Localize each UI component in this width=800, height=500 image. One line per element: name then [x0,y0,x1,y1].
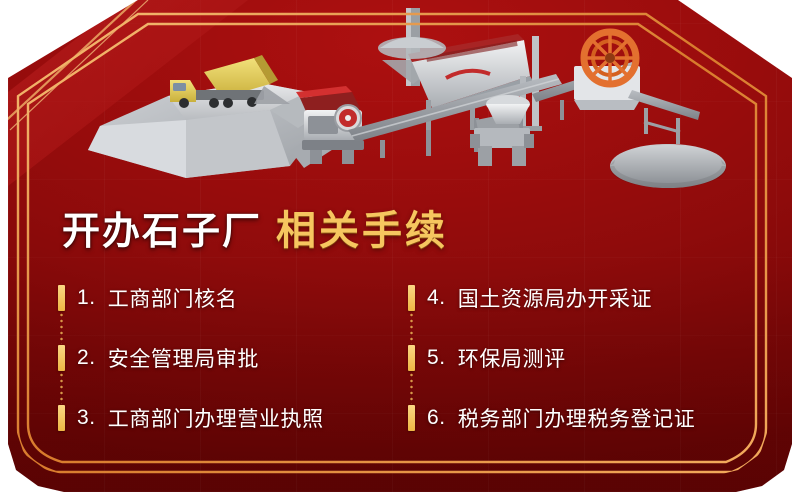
production-line-illustration [8,0,792,200]
list-item-label: 工商部门核名 [108,283,238,313]
stone-pile-small-icon [378,37,446,59]
bullet-bar-icon [408,405,415,431]
bullet-bar-icon [58,285,65,311]
list-item[interactable]: 1. 工商部门核名 [58,268,408,328]
list-item-number: 4. [427,286,446,310]
sand-washer-wheel-icon [574,32,700,144]
list-item-number: 6. [427,406,446,430]
title-primary: 开办石子厂 [62,200,262,255]
poster-title: 开办石子厂 相关手续 [62,198,448,256]
bullet-bar-icon [408,345,415,371]
right-column: 4. 国土资源局办开采证 5. 环保局测评 6. 税务部门办理税务登记证 [408,268,758,458]
list-item[interactable]: 6. 税务部门办理税务登记证 [408,388,758,448]
list-item[interactable]: 2. 安全管理局审批 [58,328,408,388]
list-item-label: 安全管理局审批 [108,343,259,373]
procedure-list: 1. 工商部门核名 2. 安全管理局审批 3. 工商部门办理营业执照 4. 国土… [58,268,758,458]
list-item-number: 1. [77,286,96,310]
list-item-label: 工商部门办理营业执照 [108,403,324,433]
bullet-bar-icon [58,405,65,431]
infographic-poster: 开办石子厂 相关手续 1. 工商部门核名 2. 安全管理局审批 3. 工商部门办… [0,0,800,500]
list-item-number: 5. [427,346,446,370]
dump-truck-icon [170,55,290,108]
list-item-label: 环保局测评 [458,343,566,373]
list-item-number: 3. [77,406,96,430]
left-column: 1. 工商部门核名 2. 安全管理局审批 3. 工商部门办理营业执照 [58,268,408,458]
list-item[interactable]: 4. 国土资源局办开采证 [408,268,758,328]
list-item-number: 2. [77,346,96,370]
list-item[interactable]: 3. 工商部门办理营业执照 [58,388,408,448]
title-highlight: 相关手续 [276,198,448,256]
list-item-label: 税务部门办理税务登记证 [458,403,696,433]
list-item[interactable]: 5. 环保局测评 [408,328,758,388]
bullet-bar-icon [58,345,65,371]
bullet-bar-icon [408,285,415,311]
stone-pile-icon [610,144,726,188]
list-item-label: 国土资源局办开采证 [458,283,652,313]
